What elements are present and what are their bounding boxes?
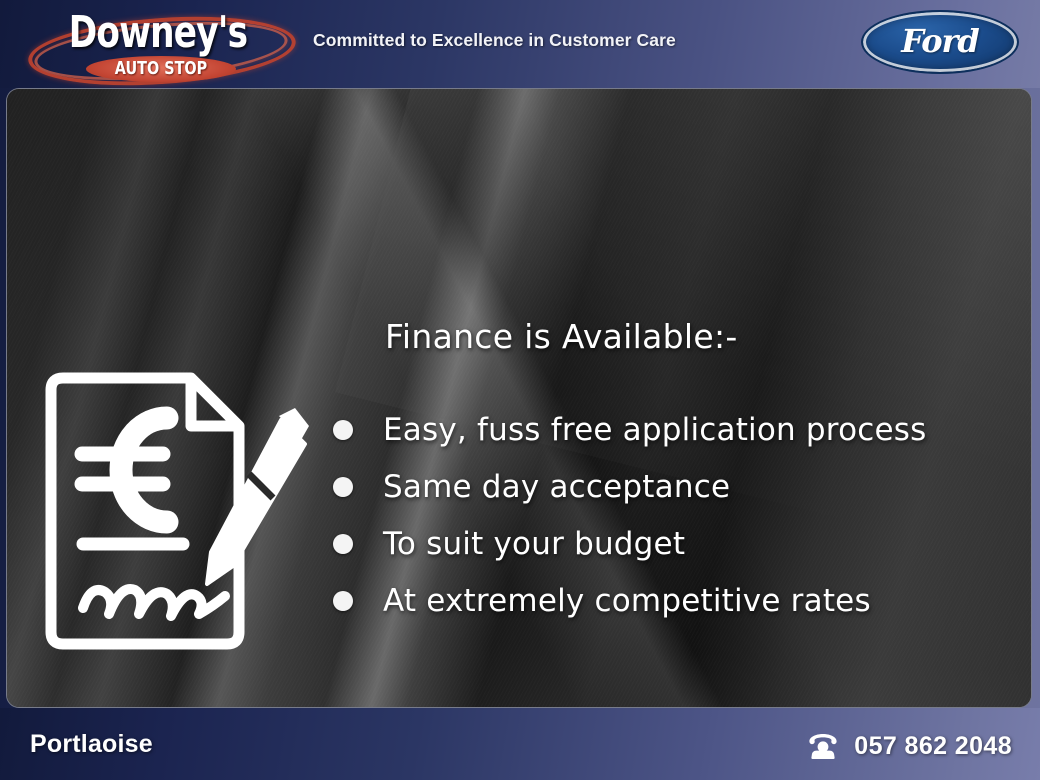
brand-name: Downey's	[53, 10, 262, 56]
brand-subtitle: AUTO STOP	[101, 58, 221, 80]
bullet-dot-icon	[333, 534, 353, 554]
banner-header: Downey's AUTO STOP Committed to Excellen…	[0, 0, 1040, 88]
list-item-label: At extremely competitive rates	[383, 583, 871, 619]
header-tagline: Committed to Excellence in Customer Care	[313, 30, 676, 51]
dealership-finance-banner: Downey's AUTO STOP Committed to Excellen…	[0, 0, 1040, 780]
list-item: Same day acceptance	[333, 458, 926, 515]
ford-wordmark: Ford	[861, 10, 1019, 74]
list-item: To suit your budget	[333, 515, 926, 572]
ford-logo[interactable]: Ford	[861, 10, 1019, 74]
telephone-icon	[806, 733, 840, 760]
finance-benefits-list: Easy, fuss free application process Same…	[333, 401, 926, 629]
list-item: Easy, fuss free application process	[333, 401, 926, 458]
page-title: Finance is Available:-	[385, 317, 738, 356]
list-item-label: Easy, fuss free application process	[383, 412, 926, 448]
dealer-location: Portlaoise	[30, 730, 153, 759]
banner-footer: Portlaoise 057 862 2048	[0, 708, 1040, 780]
phone-number: 057 862 2048	[854, 732, 1012, 761]
main-content-panel: Finance is Available:- Easy, fuss free a…	[6, 88, 1032, 708]
list-item-label: To suit your budget	[383, 526, 685, 562]
bullet-dot-icon	[333, 591, 353, 611]
bullet-dot-icon	[333, 420, 353, 440]
bullet-dot-icon	[333, 477, 353, 497]
downeys-auto-stop-logo[interactable]: Downey's AUTO STOP	[24, 4, 292, 84]
list-item-label: Same day acceptance	[383, 469, 730, 505]
finance-document-signature-icon	[43, 370, 311, 652]
list-item: At extremely competitive rates	[333, 572, 926, 629]
contact-phone[interactable]: 057 862 2048	[806, 732, 1012, 761]
